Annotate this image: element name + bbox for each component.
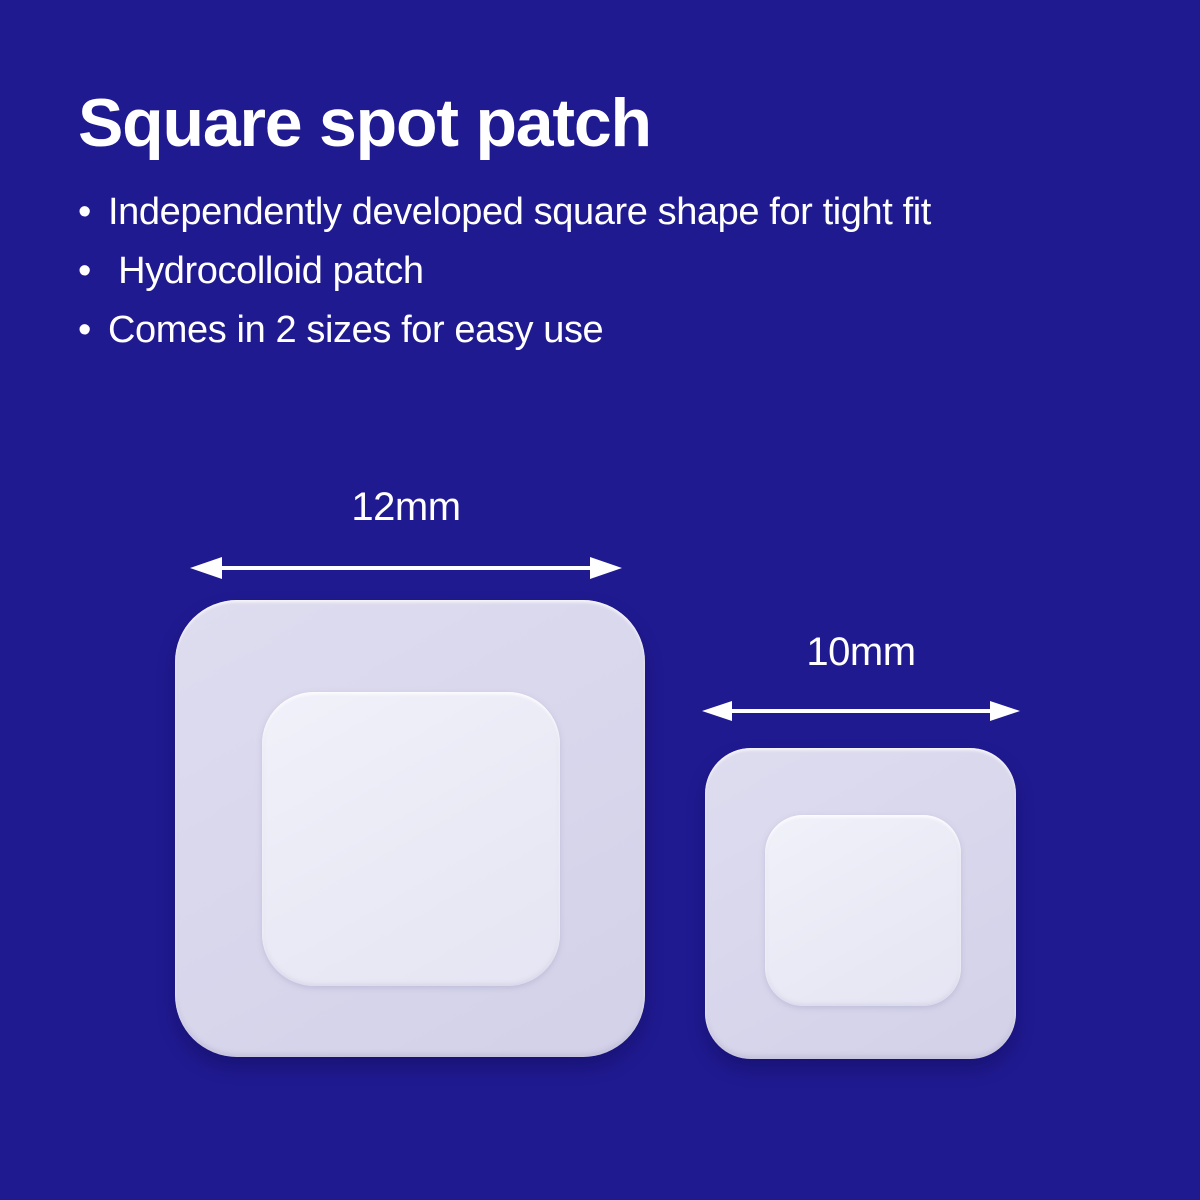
small-square-patch xyxy=(705,748,1016,1059)
large-square-patch xyxy=(175,600,645,1057)
dimension-label-small: 10mm xyxy=(702,632,1020,672)
bullet-dot-icon: • xyxy=(78,183,108,242)
text-block: Square spot patch • Independently develo… xyxy=(78,86,1138,361)
list-item: • Hydrocolloid patch xyxy=(78,242,1138,301)
page-title: Square spot patch xyxy=(78,86,1138,161)
bullet-dot-icon: • xyxy=(78,301,108,360)
small-patch-inner-pad xyxy=(765,815,961,1006)
double-arrow-icon xyxy=(190,555,622,581)
feature-text: Independently developed square shape for… xyxy=(108,183,931,242)
large-patch-inner-pad xyxy=(262,692,560,986)
dimension-callout-small: 10mm xyxy=(702,632,1020,724)
list-item: • Comes in 2 sizes for easy use xyxy=(78,301,1138,360)
feature-text: Comes in 2 sizes for easy use xyxy=(108,301,603,360)
bullet-dot-icon: • xyxy=(78,242,108,301)
dimension-callout-large: 12mm xyxy=(190,487,622,581)
feature-list: • Independently developed square shape f… xyxy=(78,183,1138,361)
dimension-label-large: 12mm xyxy=(190,487,622,527)
feature-text: Hydrocolloid patch xyxy=(108,242,424,301)
product-infographic: Square spot patch • Independently develo… xyxy=(0,0,1200,1200)
double-arrow-icon xyxy=(702,698,1020,724)
list-item: • Independently developed square shape f… xyxy=(78,183,1138,242)
